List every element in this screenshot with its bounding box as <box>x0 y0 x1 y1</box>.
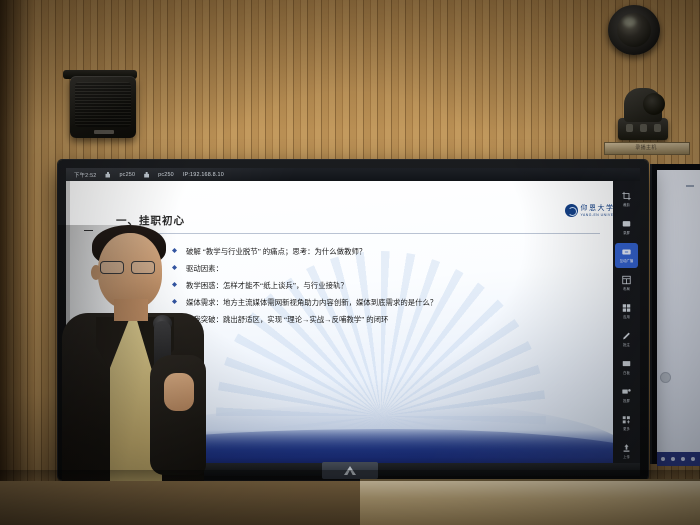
scene-vignette <box>0 0 700 525</box>
lecture-room-scene: 录播主机 下午2:52 pc250 pc250 IP:192.168.8.10 <box>0 0 700 525</box>
